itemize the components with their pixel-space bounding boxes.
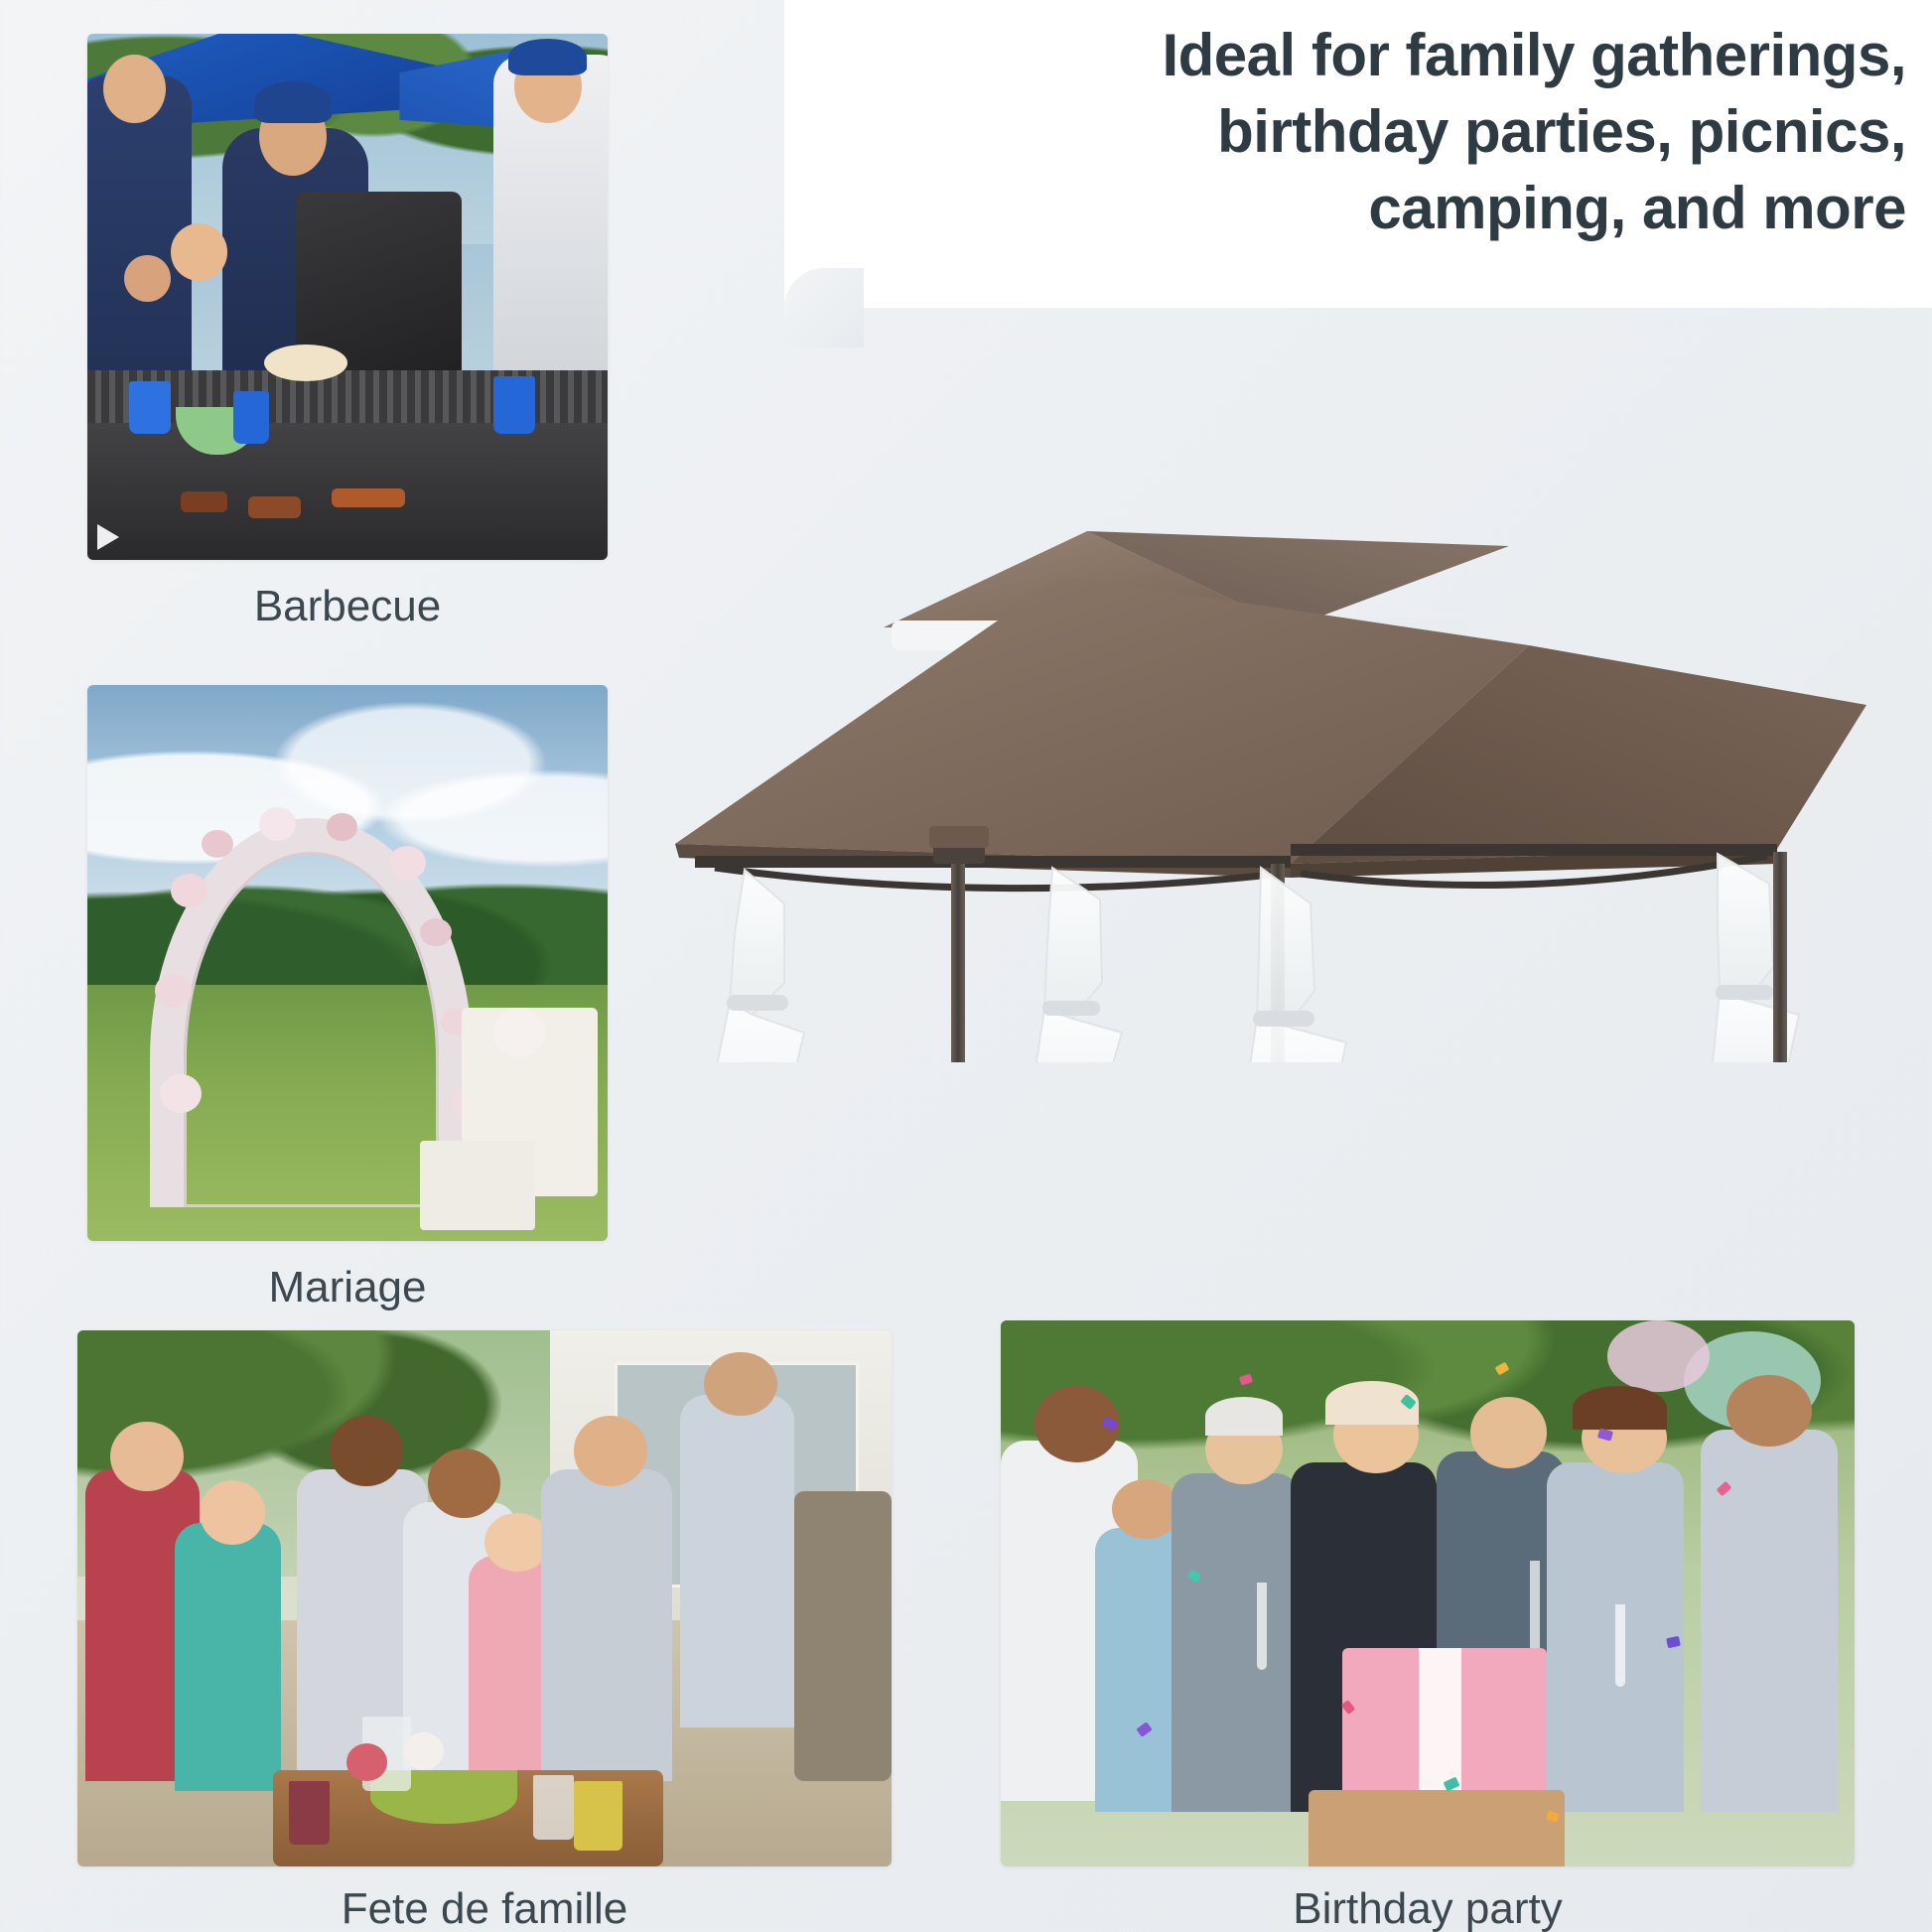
mariage-photo — [87, 685, 608, 1241]
caption-family: Fete de famille — [77, 1884, 892, 1932]
caption-mariage: Mariage — [87, 1263, 608, 1312]
header-notch — [784, 268, 864, 347]
headline-line-2: birthday parties, picnics, — [854, 94, 1906, 171]
caption-barbecue: Barbecue — [87, 582, 608, 631]
image-card-birthday — [1001, 1320, 1855, 1866]
image-card-mariage — [87, 685, 608, 1241]
page-title: Ideal for family gatherings, birthday pa… — [854, 18, 1906, 246]
barbecue-photo — [87, 34, 608, 560]
headline-line-1: Ideal for family gatherings, — [854, 18, 1906, 94]
headline-line-3: camping, and more — [854, 171, 1906, 247]
family-photo — [77, 1330, 892, 1866]
video-play-icon — [97, 524, 119, 550]
birthday-photo — [1001, 1320, 1855, 1866]
caption-birthday: Birthday party — [1001, 1884, 1855, 1932]
image-card-family — [77, 1330, 892, 1866]
product-image-gazebo — [635, 347, 1866, 1062]
image-card-barbecue — [87, 34, 608, 560]
